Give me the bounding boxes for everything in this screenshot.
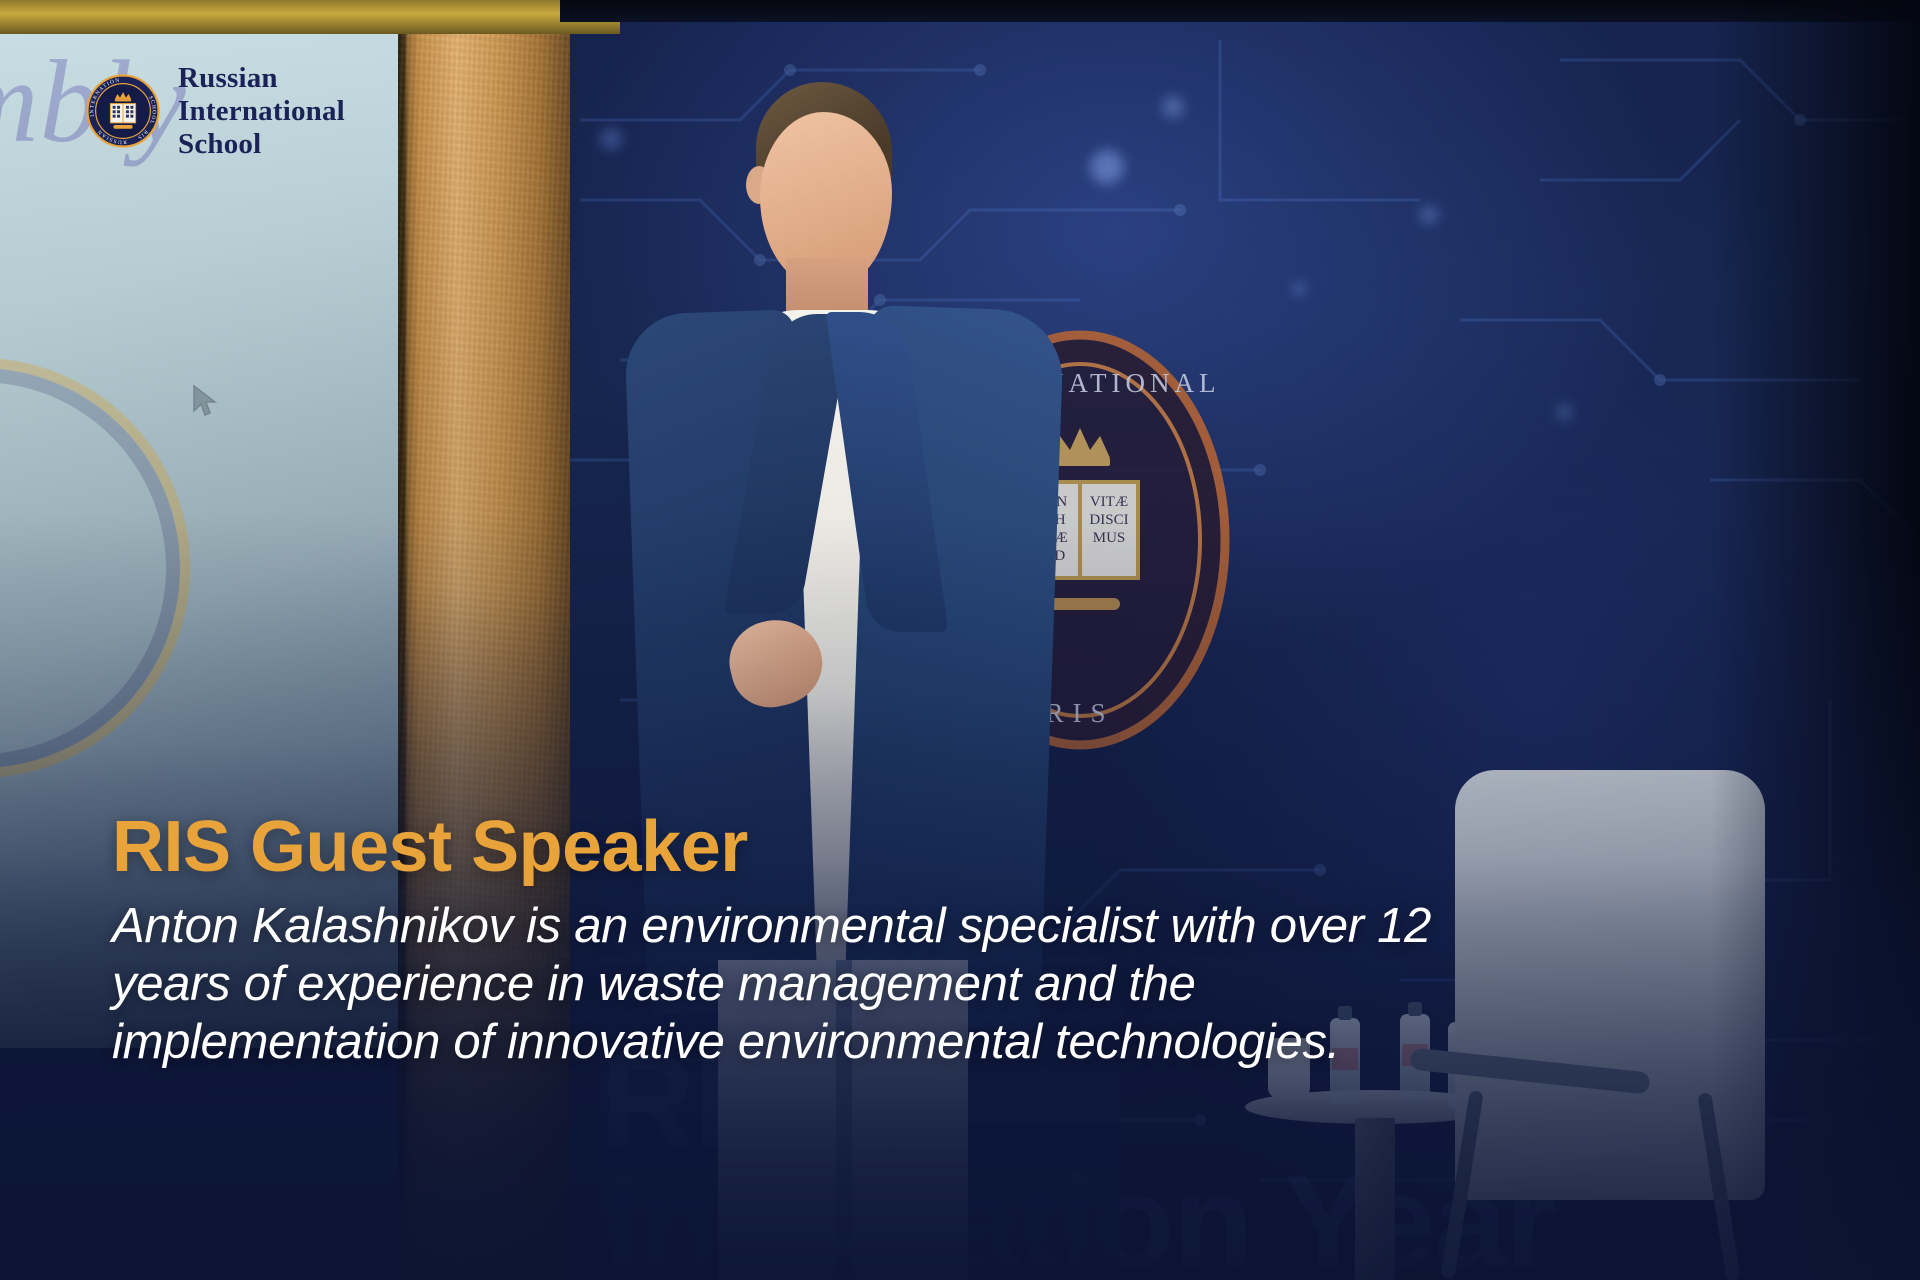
bokeh-light: [1162, 96, 1184, 118]
brand-name: Russian International School: [178, 62, 345, 160]
speaker-bio-text: Anton Kalashnikov is an environmental sp…: [112, 898, 1432, 1071]
mouse-pointer-icon: [192, 384, 218, 418]
brand-name-line-3: School: [178, 128, 345, 161]
curtain-valance: [0, 0, 620, 34]
brand-logo-block: INTERNATIONAL SCHOOL RIS RUSSIAN: [86, 62, 345, 160]
bokeh-light: [1556, 404, 1572, 420]
page-title: RIS Guest Speaker: [112, 806, 748, 888]
bokeh-light: [1292, 282, 1306, 296]
brand-name-line-1: Russian: [178, 62, 345, 95]
projector-seal-ghost: SCHOOL: [0, 358, 190, 778]
bokeh-light: [1420, 206, 1438, 224]
ris-seal-icon: INTERNATIONAL SCHOOL RIS RUSSIAN: [86, 74, 160, 148]
poster-canvas: INTERNATIONAL RIS NON SCH OLÆ SED VITÆ D…: [0, 0, 1920, 1280]
brand-name-line-2: International: [178, 95, 345, 128]
